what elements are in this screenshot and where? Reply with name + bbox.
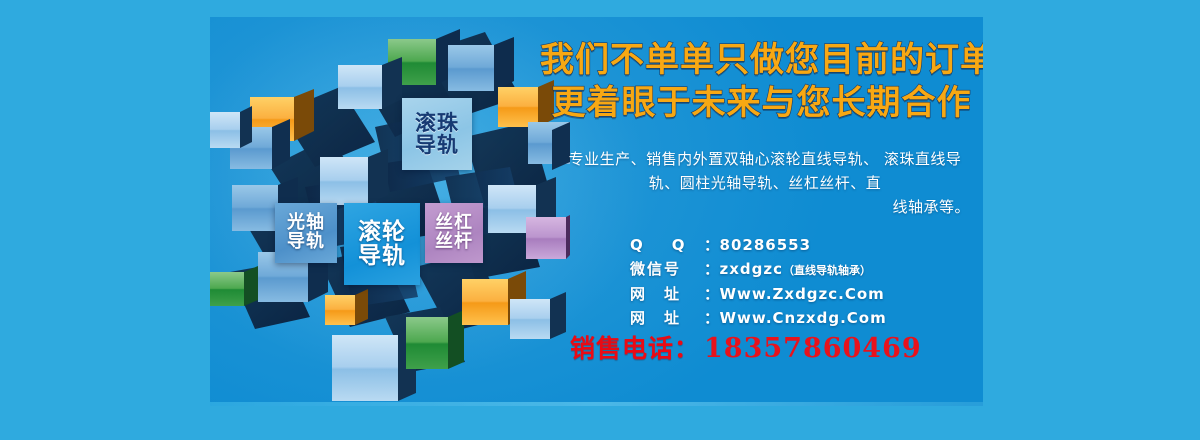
headline-line-2: 更着眼于未来与您长期合作: [540, 82, 983, 125]
contact-note-wechat: （直线导轨轴承）: [783, 262, 871, 280]
label-chip-ball-guide: 滚珠 导轨: [402, 98, 472, 170]
contact-row-website-1[interactable]: 网 址 ： Www.Zxdgzc.Com: [630, 282, 980, 306]
contact-value-qq: 80286553: [720, 233, 812, 257]
chip-line-1: 滚珠: [415, 112, 459, 134]
label-chip-lead-screw: 丝杠 丝杆: [425, 203, 483, 263]
contact-label: Q Q: [630, 233, 704, 257]
contact-row-qq: Q Q ： 80286553: [630, 233, 980, 257]
chip-line-2: 导轨: [287, 233, 325, 252]
banner-inner-panel: 滚珠 导轨 光轴 导轨 滚轮 导轨 丝杠 丝杆 我们不单单只做您目前的订单 更着…: [210, 17, 983, 406]
promo-banner: 滚珠 导轨 光轴 导轨 滚轮 导轨 丝杠 丝杆 我们不单单只做您目前的订单 更着…: [0, 0, 1200, 440]
contact-value-website-2[interactable]: Www.Cnzxdg.Com: [720, 306, 887, 330]
contact-value-wechat: zxdgzc: [720, 257, 784, 281]
description-line-3: 线轴承等。: [560, 195, 970, 219]
headline: 我们不单单只做您目前的订单 更着眼于未来与您长期合作: [540, 39, 983, 125]
sales-phone-label: 销售电话：: [570, 329, 700, 365]
contact-value-website-1[interactable]: Www.Zxdgzc.Com: [720, 282, 885, 306]
contact-separator: ：: [704, 257, 720, 281]
label-chip-roller-guide: 滚轮 导轨: [344, 203, 420, 285]
contact-separator: ：: [704, 233, 720, 257]
contact-separator: ：: [704, 306, 720, 330]
contact-row-website-2[interactable]: 网 址 ： Www.Cnzxdg.Com: [630, 306, 980, 330]
contact-label: 网 址: [630, 306, 704, 330]
headline-line-1: 我们不单单只做您目前的订单: [540, 39, 983, 82]
sales-phone-number[interactable]: 18357860469: [704, 333, 922, 364]
description-line-1: 专业生产、销售内外置双轴心滚轮直线导轨、: [569, 150, 879, 168]
contact-label: 微信号: [630, 257, 704, 281]
chip-line-1: 滚轮: [358, 220, 406, 244]
chip-line-2: 导轨: [415, 134, 459, 156]
contact-info: Q Q ： 80286553 微信号 ： zxdgzc （直线导轨轴承） 网 址…: [630, 233, 980, 330]
sales-phone: 销售电话： 18357860469: [570, 329, 983, 365]
label-chip-optical-shaft-guide: 光轴 导轨: [275, 203, 337, 263]
panel-bottom-accent: [210, 402, 983, 406]
contact-row-wechat: 微信号 ： zxdgzc （直线导轨轴承）: [630, 257, 980, 281]
description-text: 专业生产、销售内外置双轴心滚轮直线导轨、 滚珠直线导轨、圆柱光轴导轨、丝杠丝杆、…: [560, 147, 970, 219]
contact-label: 网 址: [630, 282, 704, 306]
chip-line-2: 丝杆: [435, 233, 473, 252]
banner-content: 我们不单单只做您目前的订单 更着眼于未来与您长期合作 专业生产、销售内外置双轴心…: [540, 17, 983, 406]
chip-line-2: 导轨: [358, 244, 406, 268]
contact-separator: ：: [704, 282, 720, 306]
